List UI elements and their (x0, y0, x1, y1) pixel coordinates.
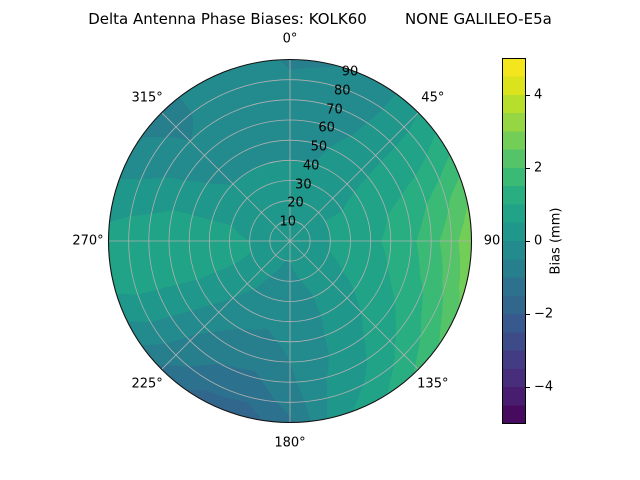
page-title: Delta Antenna Phase Biases: KOLK60 NONE … (0, 10, 640, 28)
angular-tick-90: 90 (484, 234, 501, 249)
radial-tick-70: 70 (326, 102, 343, 117)
radial-tick-30: 30 (295, 177, 312, 192)
polar-contour-canvas[interactable] (107, 58, 473, 424)
colorbar-tick-mark (526, 314, 530, 315)
colorbar-tick-label: 4 (534, 88, 542, 101)
radial-tick-90: 90 (342, 64, 359, 79)
colorbar-tick-mark (526, 241, 530, 242)
radial-tick-10: 10 (279, 215, 296, 230)
colorbar-gradient (502, 58, 526, 424)
angular-tick-315: 315° (131, 91, 162, 106)
polar-axes[interactable]: 0°45°90135°180°225°270°315° 102030405060… (107, 58, 473, 424)
colorbar-label: Bias (mm) (549, 208, 564, 275)
angular-tick-270: 270° (72, 234, 103, 249)
radial-tick-80: 80 (334, 83, 351, 98)
colorbar[interactable]: 420−2−4 (502, 58, 526, 424)
polar-bias-figure: Delta Antenna Phase Biases: KOLK60 NONE … (0, 0, 640, 480)
colorbar-tick-label: 2 (534, 161, 542, 174)
angular-tick-180: 180° (274, 436, 305, 451)
angular-tick-45: 45° (421, 91, 444, 106)
angular-tick-225: 225° (131, 376, 162, 391)
colorbar-tick-mark (526, 168, 530, 169)
radial-tick-20: 20 (287, 196, 304, 211)
colorbar-tick-label: −2 (534, 308, 553, 321)
radial-tick-50: 50 (311, 140, 328, 155)
colorbar-tick-mark (526, 95, 530, 96)
colorbar-tick-mark (526, 387, 530, 388)
angular-tick-135: 135° (417, 376, 448, 391)
radial-tick-60: 60 (318, 121, 335, 136)
radial-tick-40: 40 (303, 158, 320, 173)
angular-tick-0: 0° (283, 32, 298, 47)
colorbar-tick-label: 0 (534, 235, 542, 248)
colorbar-tick-label: −4 (534, 381, 553, 394)
